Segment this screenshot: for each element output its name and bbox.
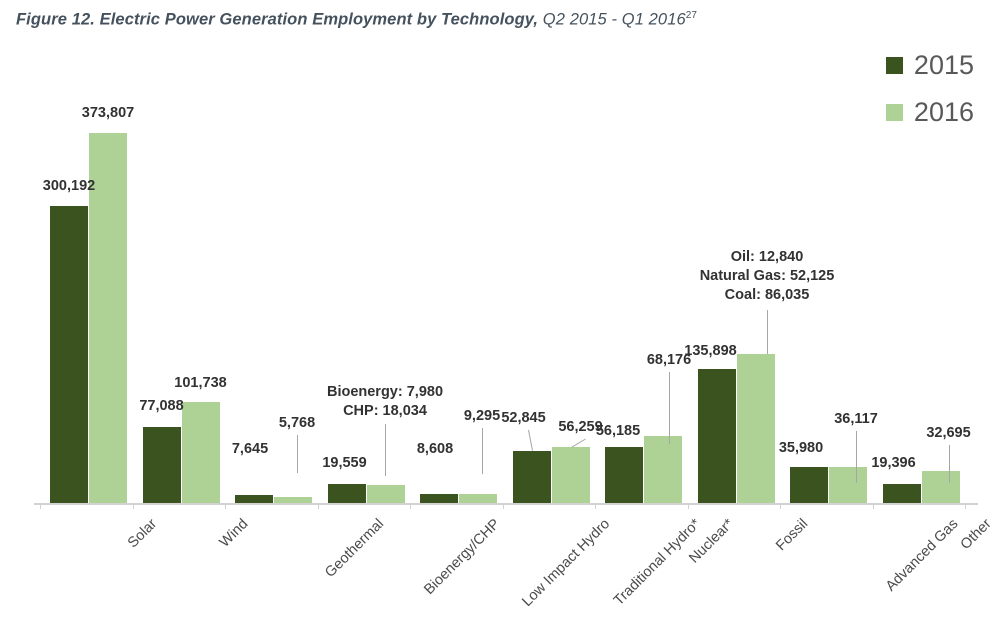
x-axis-tick xyxy=(688,503,689,509)
x-axis-tick xyxy=(595,503,596,509)
bar-other-2016[interactable] xyxy=(922,471,960,503)
value-label-wind-2015: 77,088 xyxy=(139,398,183,414)
value-label-low-impact-hydro-2015: 8,608 xyxy=(417,441,453,457)
value-label-bioenergy-chp-2015: 19,559 xyxy=(322,455,366,471)
annotation-leader-line xyxy=(767,310,768,354)
category-label-traditional-hydro[interactable]: Traditional Hydro* xyxy=(611,516,704,609)
bar-fossil-2015[interactable] xyxy=(698,369,736,504)
x-axis-tick xyxy=(503,503,504,509)
bar-traditional-hydro-2015[interactable] xyxy=(513,451,551,503)
chart-plot-area: 300,192373,80777,088101,7387,6455,76819,… xyxy=(0,0,1000,642)
category-label-advanced-gas[interactable]: Advanced Gas xyxy=(882,516,961,595)
value-label-solar-2015: 300,192 xyxy=(43,178,95,194)
category-label-bioenergy-chp[interactable]: Bioenergy/CHP xyxy=(421,516,503,598)
value-label-geothermal-2015: 7,645 xyxy=(232,441,268,457)
bar-advanced-gas-2016[interactable] xyxy=(829,467,867,503)
bar-nuclear-2015[interactable] xyxy=(605,447,643,503)
category-label-fossil[interactable]: Fossil xyxy=(773,516,811,554)
x-axis-tick xyxy=(780,503,781,509)
x-axis-tick xyxy=(965,503,966,509)
annotation-bioenergy-chp: Bioenergy: 7,980CHP: 18,034 xyxy=(327,383,443,421)
bar-other-2015[interactable] xyxy=(883,484,921,503)
bar-solar-2015[interactable] xyxy=(50,206,88,503)
bar-low-impact-hydro-2015[interactable] xyxy=(420,494,458,503)
x-axis-tick xyxy=(133,503,134,509)
annotation-leader-line xyxy=(385,424,386,476)
value-label-geothermal-2016: 5,768 xyxy=(279,415,315,431)
x-axis-tick xyxy=(318,503,319,509)
category-label-other[interactable]: Other xyxy=(958,516,995,553)
annotation-line: Coal: 86,035 xyxy=(700,286,835,305)
bar-geothermal-2016[interactable] xyxy=(274,497,312,503)
x-axis-tick xyxy=(873,503,874,509)
leader-line xyxy=(669,372,670,444)
x-axis-tick xyxy=(40,503,41,509)
leader-line xyxy=(297,435,298,473)
annotation-line: CHP: 18,034 xyxy=(327,402,443,421)
category-label-geothermal[interactable]: Geothermal xyxy=(322,516,387,581)
value-label-advanced-gas-2016: 36,117 xyxy=(834,411,878,427)
value-label-traditional-hydro-2015: 52,845 xyxy=(501,410,545,426)
value-label-fossil-2015: 135,898 xyxy=(684,343,736,359)
leader-line xyxy=(482,428,483,474)
bar-fossil-2016[interactable] xyxy=(737,354,775,503)
annotation-line: Natural Gas: 52,125 xyxy=(700,267,835,286)
value-label-other-2016: 32,695 xyxy=(926,425,970,441)
leader-line xyxy=(528,430,533,451)
value-label-low-impact-hydro-2016: 9,295 xyxy=(464,408,500,424)
category-label-low-impact-hydro[interactable]: Low Impact Hydro xyxy=(519,516,613,610)
bar-geothermal-2015[interactable] xyxy=(235,495,273,503)
category-label-solar[interactable]: Solar xyxy=(124,516,159,551)
leader-line xyxy=(949,445,950,483)
bar-bioenergy-chp-2016[interactable] xyxy=(367,485,405,503)
value-label-other-2015: 19,396 xyxy=(871,455,915,471)
value-label-advanced-gas-2015: 35,980 xyxy=(779,440,823,456)
bar-low-impact-hydro-2016[interactable] xyxy=(459,494,497,503)
x-axis-tick xyxy=(225,503,226,509)
bar-traditional-hydro-2016[interactable] xyxy=(552,447,590,503)
bar-wind-2016[interactable] xyxy=(182,402,220,503)
bar-bioenergy-chp-2015[interactable] xyxy=(328,484,366,503)
leader-line xyxy=(856,431,857,483)
bar-wind-2015[interactable] xyxy=(143,427,181,503)
bar-advanced-gas-2015[interactable] xyxy=(790,467,828,503)
category-label-wind[interactable]: Wind xyxy=(217,516,252,551)
bar-nuclear-2016[interactable] xyxy=(644,436,682,503)
value-label-nuclear-2015: 56,185 xyxy=(596,423,640,439)
value-label-wind-2016: 101,738 xyxy=(174,375,226,391)
annotation-line: Bioenergy: 7,980 xyxy=(327,383,443,402)
x-axis-line xyxy=(34,503,978,505)
annotation-line: Oil: 12,840 xyxy=(700,248,835,267)
x-axis-tick xyxy=(410,503,411,509)
value-label-solar-2016: 373,807 xyxy=(82,105,134,121)
annotation-fossil: Oil: 12,840Natural Gas: 52,125Coal: 86,0… xyxy=(700,248,835,305)
